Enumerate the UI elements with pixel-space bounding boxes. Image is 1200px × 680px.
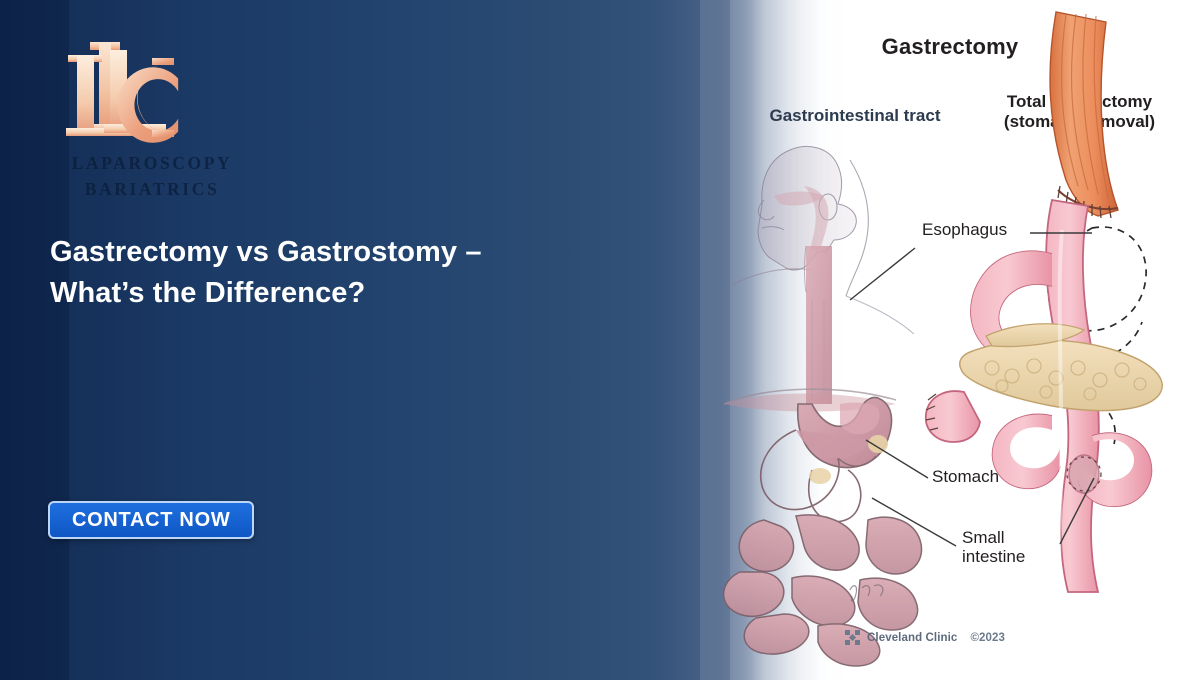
page-title: Gastrectomy vs Gastrostomy – What’s the … <box>50 232 610 314</box>
brand-tagline-line2: BARIATRICS <box>46 176 258 202</box>
medical-illustration: Gastrectomy Gastrointestinal tract Total… <box>700 0 1200 680</box>
gi-tract-figure <box>724 146 922 666</box>
page-title-line1: Gastrectomy vs Gastrostomy – <box>50 232 610 273</box>
credit-year: ©2023 <box>970 632 1005 644</box>
brand-tagline-line1: LAPAROSCOPY <box>46 150 258 176</box>
label-small-intestine-line2: intestine <box>962 548 1052 567</box>
cleveland-clinic-logo-icon <box>845 630 860 645</box>
brand-logo[interactable]: LAPAROSCOPY BARIATRICS <box>52 38 252 203</box>
label-esophagus: Esophagus <box>922 221 1007 240</box>
hero-banner: LAPAROSCOPY BARIATRICS Gastrectomy vs Ga… <box>0 0 1200 680</box>
label-small-intestine-line1: Small <box>962 529 1052 548</box>
label-stomach: Stomach <box>932 468 999 487</box>
label-small-intestine: Small intestine <box>962 529 1052 566</box>
brand-tagline: LAPAROSCOPY BARIATRICS <box>46 150 258 203</box>
credit: Cleveland Clinic ©2023 <box>845 630 1005 645</box>
anatomy-artwork <box>700 0 1200 680</box>
total-gastrectomy-figure <box>926 12 1162 592</box>
contact-now-button[interactable]: CONTACT NOW <box>48 501 254 539</box>
credit-name: Cleveland Clinic <box>867 632 957 644</box>
page-title-line2: What’s the Difference? <box>50 273 610 314</box>
ilc-monogram-icon <box>52 38 252 168</box>
